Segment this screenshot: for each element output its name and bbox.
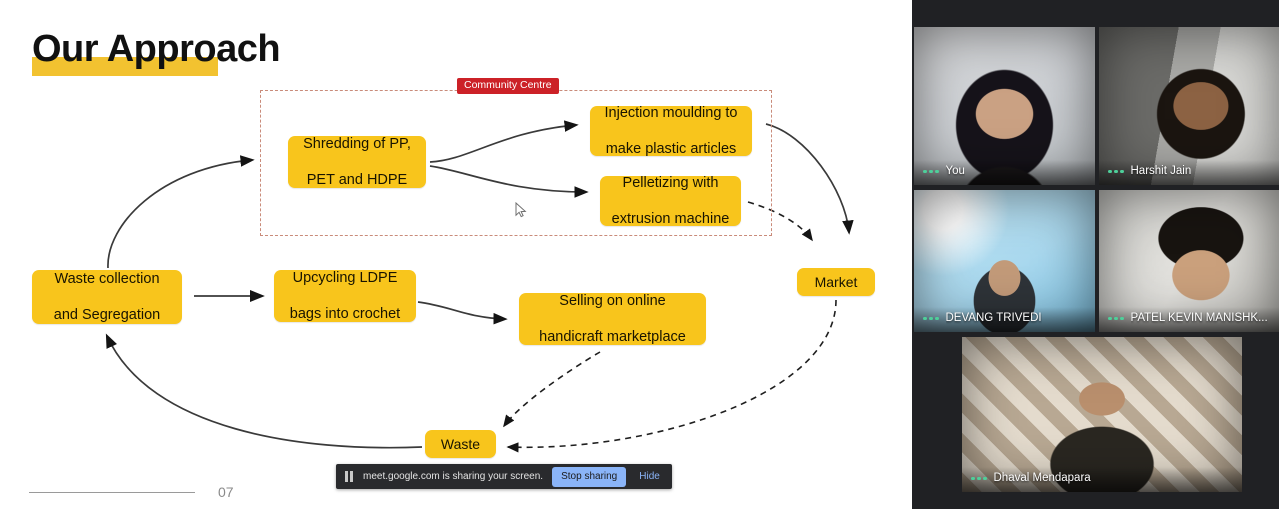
participant-tile-harshit-jain[interactable]: Harshit Jain: [1099, 27, 1279, 185]
mic-activity-icon: [923, 317, 939, 321]
footer-divider: [29, 492, 195, 493]
node-shredding-line1: Shredding of PP,: [303, 135, 411, 153]
meet-participants-panel: You Harshit Jain DEVANG TRIVEDI: [912, 0, 1279, 509]
mic-activity-icon: [1108, 170, 1124, 174]
stop-sharing-button[interactable]: Stop sharing: [552, 467, 626, 487]
node-shredding: Shredding of PP, PET and HDPE: [288, 136, 426, 188]
participant-name-chip: DEVANG TRIVEDI: [914, 307, 1095, 332]
share-message: meet.google.com is sharing your screen.: [363, 471, 543, 482]
mic-activity-icon: [1108, 317, 1124, 321]
mic-activity-icon: [971, 477, 987, 481]
participant-row-middle: DEVANG TRIVEDI PATEL KEVIN MANISHK...: [914, 190, 1279, 332]
participant-name: PATEL KEVIN MANISHK...: [1131, 312, 1268, 325]
participant-name-chip: PATEL KEVIN MANISHK...: [1099, 307, 1279, 332]
node-pelletizing: Pelletizing with extrusion machine: [600, 176, 741, 226]
node-waste-collection-line2: and Segregation: [54, 306, 160, 324]
participant-name: Dhaval Mendapara: [994, 472, 1091, 485]
participant-tile-patel-kevin[interactable]: PATEL KEVIN MANISHK...: [1099, 190, 1279, 332]
pause-icon: [345, 471, 354, 482]
node-pelletizing-line2: extrusion machine: [612, 210, 730, 228]
node-upcycling-line1: Upcycling LDPE: [290, 269, 400, 287]
page-title: Our Approach: [32, 30, 280, 68]
node-injection-moulding: Injection moulding to make plastic artic…: [590, 106, 752, 156]
node-selling: Selling on online handicraft marketplace: [519, 293, 706, 345]
participant-name: You: [946, 165, 965, 178]
participant-row-top: You Harshit Jain: [914, 27, 1279, 185]
mic-activity-icon: [923, 170, 939, 174]
node-waste: Waste: [425, 430, 496, 458]
mouse-cursor-icon: [515, 202, 528, 219]
page-number: 07: [218, 484, 234, 500]
screen-share-bar: meet.google.com is sharing your screen. …: [336, 464, 672, 489]
node-upcycling: Upcycling LDPE bags into crochet: [274, 270, 416, 322]
node-shredding-line2: PET and HDPE: [303, 171, 411, 189]
community-centre-label: Community Centre: [457, 78, 559, 94]
shared-slide: Our Approach: [0, 0, 912, 509]
participant-name: Harshit Jain: [1131, 165, 1192, 178]
node-upcycling-line2: bags into crochet: [290, 305, 400, 323]
participant-tile-you[interactable]: You: [914, 27, 1095, 185]
participant-row-bottom: Dhaval Mendapara: [962, 337, 1242, 492]
participant-tile-dhaval-mendapara[interactable]: Dhaval Mendapara: [962, 337, 1242, 492]
screen-share-window: Our Approach: [0, 0, 1279, 509]
node-waste-collection-line1: Waste collection: [54, 270, 160, 288]
node-selling-line2: handicraft marketplace: [539, 328, 686, 346]
hide-button[interactable]: Hide: [635, 466, 664, 487]
node-injection-line2: make plastic articles: [605, 140, 738, 158]
participant-name-chip: Dhaval Mendapara: [962, 467, 1242, 492]
node-pelletizing-line1: Pelletizing with: [612, 174, 730, 192]
node-injection-line1: Injection moulding to: [605, 104, 738, 122]
participant-name: DEVANG TRIVEDI: [946, 312, 1042, 325]
node-market: Market: [797, 268, 875, 296]
participant-name-chip: Harshit Jain: [1099, 160, 1279, 185]
participant-name-chip: You: [914, 160, 1095, 185]
node-waste-collection: Waste collection and Segregation: [32, 270, 182, 324]
participant-tile-devang-trivedi[interactable]: DEVANG TRIVEDI: [914, 190, 1095, 332]
node-selling-line1: Selling on online: [539, 292, 686, 310]
